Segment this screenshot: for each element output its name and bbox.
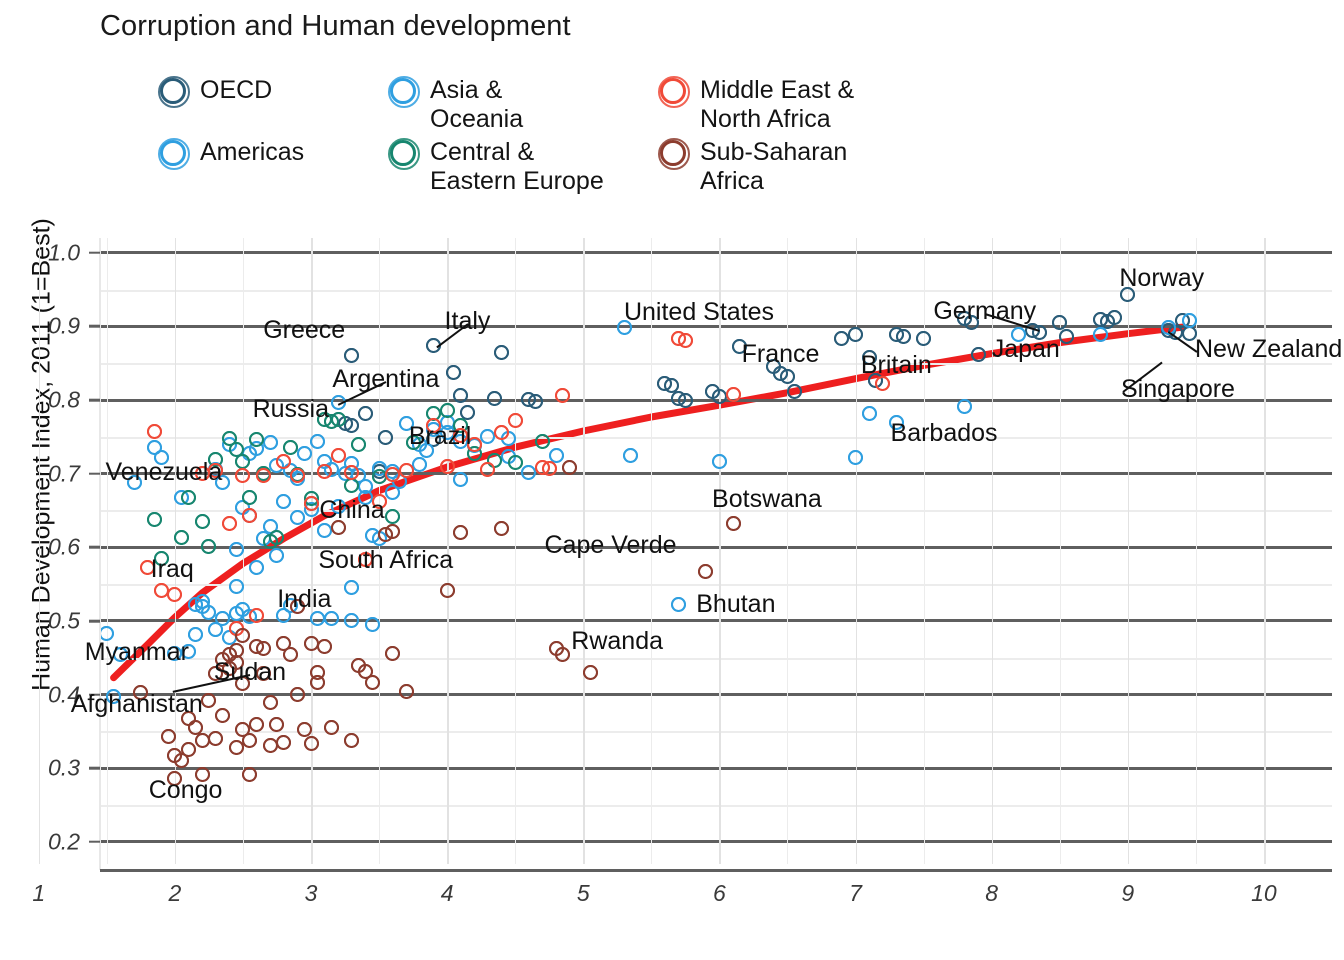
gridline-vertical-major [856,238,858,864]
y-tick-mark [89,620,100,623]
country-label-china: China [319,496,384,525]
gridline-vertical-major [175,238,177,864]
legend-item-label: Middle East & North Africa [700,76,854,134]
legend-item-sub-saharan-africa[interactable]: Sub-Saharan Africa [660,138,847,196]
y-axis-line [99,238,101,870]
legend-item-label: Sub-Saharan Africa [700,138,847,196]
gridline-horizontal-minor [100,731,1332,733]
y-tick-mark [89,399,100,402]
gridline-horizontal-major [100,693,1332,696]
gridline-horizontal-minor [100,437,1332,439]
country-label-japan: Japan [992,335,1060,364]
x-tick-label: 2 [145,880,205,907]
x-tick-label: 9 [1098,880,1158,907]
gridline-horizontal-major [100,546,1332,549]
gridline-vertical-minor [1196,238,1197,864]
y-tick-label: 0.7 [0,460,80,487]
country-label-greece: Greece [263,316,345,345]
x-tick-label: 1 [9,880,69,907]
country-label-botswana: Botswana [712,485,822,514]
country-label-argentina: Argentina [332,365,439,394]
y-tick-mark [89,325,100,328]
country-label-barbados: Barbados [891,419,998,448]
country-label-afghanistan: Afghanistan [71,690,203,719]
country-label-brazil: Brazil [409,422,472,451]
gridline-horizontal-minor [100,363,1332,365]
gridline-horizontal-minor [100,805,1332,807]
gridline-vertical-minor [243,238,244,864]
country-label-rwanda: Rwanda [571,627,663,656]
gridline-horizontal-major [100,251,1332,254]
legend-marker-icon [660,78,686,104]
gridline-vertical-minor [1060,238,1061,864]
y-tick-label: 1.0 [0,239,80,266]
x-tick-label: 5 [553,880,613,907]
country-label-sudan: Sudan [214,658,286,687]
legend-item-label: OECD [200,76,272,105]
y-tick-mark [89,251,100,254]
gridline-vertical-minor [787,238,788,864]
x-tick-label: 6 [689,880,749,907]
x-tick-label: 10 [1234,880,1294,907]
y-tick-label: 0.5 [0,607,80,634]
legend-marker-icon [390,78,416,104]
country-label-venezuela: Venezuela [105,458,222,487]
gridline-horizontal-major [100,840,1332,843]
country-label-britain: Britain [861,351,932,380]
y-tick-label: 0.4 [0,681,80,708]
y-tick-label: 0.9 [0,313,80,340]
country-label-south-africa: South Africa [318,546,453,575]
gridline-vertical-major [992,238,994,864]
legend-item-asia-oceania[interactable]: Asia & Oceania [390,76,523,134]
country-label-iraq: Iraq [151,555,194,584]
country-label-india: India [277,585,331,614]
y-tick-label: 0.8 [0,387,80,414]
gridline-vertical-minor [107,238,108,864]
country-label-united-states: United States [624,298,774,327]
legend-item-label: Americas [200,138,304,167]
legend-item-central-eastern-europe[interactable]: Central & Eastern Europe [390,138,604,196]
gridline-vertical-major [1264,238,1266,864]
legend-marker-icon [390,140,416,166]
x-tick-label: 8 [962,880,1022,907]
x-tick-label: 7 [826,880,886,907]
y-tick-mark [89,472,100,475]
country-label-myanmar: Myanmar [85,638,189,667]
gridline-vertical-major [719,238,721,864]
legend-marker-icon [660,140,686,166]
gridline-horizontal-major [100,472,1332,475]
country-label-italy: Italy [445,307,491,336]
country-label-new-zealand: New Zealand [1195,335,1342,364]
country-label-germany: Germany [933,297,1036,326]
gridline-horizontal-major [100,767,1332,770]
legend: OECDAmericasAsia & OceaniaCentral & East… [160,76,1060,201]
legend-item-label: Asia & Oceania [430,76,523,134]
gridline-vertical-major [1128,238,1130,864]
country-label-bhutan: Bhutan [696,590,775,619]
country-label-russia: Russia [253,395,329,424]
x-tick-label: 4 [417,880,477,907]
legend-item-americas[interactable]: Americas [160,138,304,167]
x-axis-line [100,869,1332,872]
country-label-cape-verde: Cape Verde [544,531,676,560]
y-tick-label: 0.6 [0,534,80,561]
country-label-norway: Norway [1119,264,1204,293]
x-tick-label: 3 [281,880,341,907]
chart-root: Corruption and Human development OECDAme… [0,0,1344,960]
gridline-vertical-minor [515,238,516,864]
y-tick-mark [89,841,100,844]
legend-item-middle-east-north-africa[interactable]: Middle East & North Africa [660,76,854,134]
legend-item-oecd[interactable]: OECD [160,76,272,105]
country-label-france: France [742,340,820,369]
y-tick-mark [89,546,100,549]
country-label-congo: Congo [149,776,223,805]
gridline-horizontal-major [100,619,1332,622]
y-tick-label: 0.3 [0,755,80,782]
gridline-vertical-minor [924,238,925,864]
legend-item-label: Central & Eastern Europe [430,138,604,196]
y-axis-title: Human Development Index, 2011 (1=Best) [28,145,57,765]
page-title: Corruption and Human development [100,10,571,43]
legend-marker-icon [160,78,186,104]
y-tick-label: 0.2 [0,828,80,855]
y-tick-mark [89,767,100,770]
legend-marker-icon [160,140,186,166]
